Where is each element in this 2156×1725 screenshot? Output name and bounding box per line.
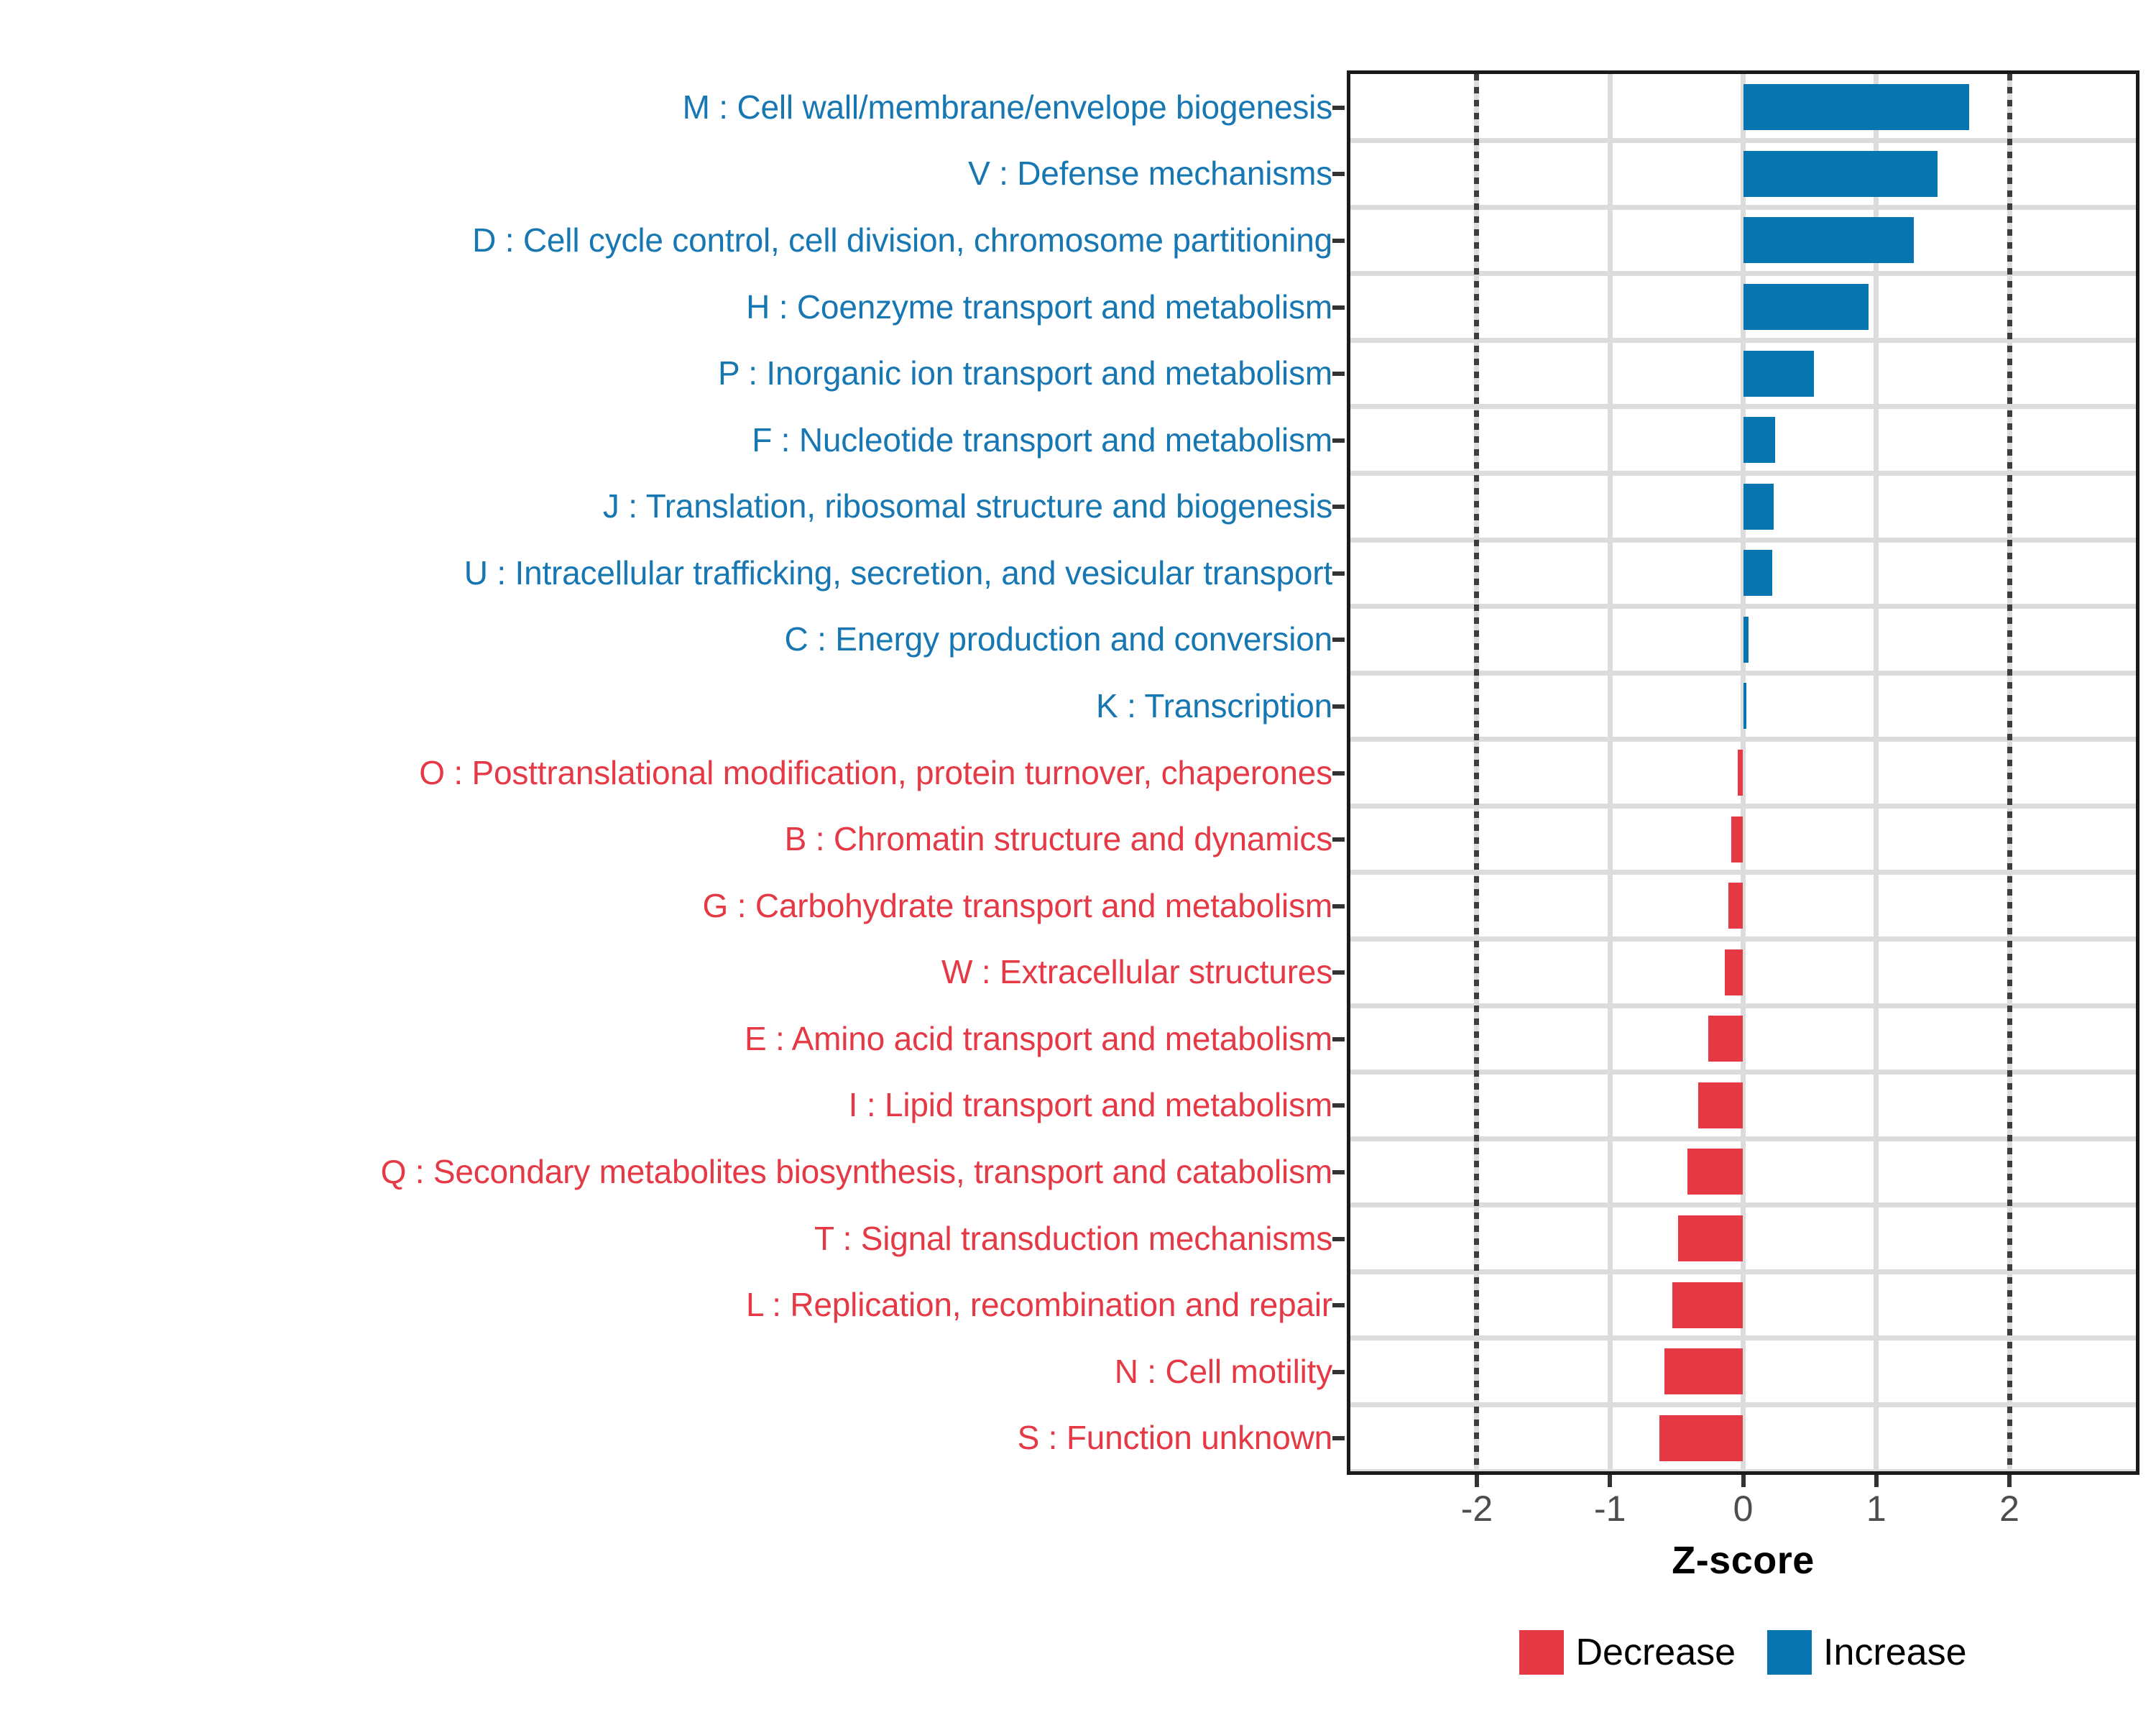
x-axis-title: Z-score [1347,1538,2139,1583]
y-axis-label: C : Energy production and conversion [785,606,1332,673]
y-axis-label: U : Intracellular trafficking, secretion… [464,540,1332,607]
x-axis-tick-mark [1475,1475,1479,1487]
bar [1659,1415,1743,1461]
y-axis-label: N : Cell motility [1115,1338,1332,1405]
y-axis-tick-mark [1332,904,1345,908]
gridline-vertical [1608,74,1613,1471]
y-axis-tick-mark [1332,1303,1345,1307]
y-axis-tick-mark [1332,638,1345,642]
reference-line-dotted [2007,74,2012,1471]
x-axis-tick-label: -1 [1567,1488,1653,1529]
y-axis-label: H : Coenzyme transport and metabolism [746,274,1332,341]
y-axis-label: D : Cell cycle control, cell division, c… [472,207,1332,274]
y-axis-tick-mark [1332,771,1345,776]
bar [1687,1149,1743,1195]
bar [1743,84,1970,130]
bar [1743,417,1775,463]
y-axis-tick-mark [1332,1170,1345,1174]
y-axis-label: O : Posttranslational modification, prot… [419,740,1332,806]
y-axis-tick-mark [1332,438,1345,443]
bar [1664,1348,1743,1394]
gridline-horizontal [1350,1003,2136,1008]
y-axis-label: E : Amino acid transport and metabolism [745,1006,1332,1072]
y-axis-label: V : Defense mechanisms [968,140,1332,207]
y-axis-tick-mark [1332,970,1345,975]
legend-item: Decrease [1519,1630,1736,1675]
gridline-horizontal [1350,205,2136,210]
gridline-horizontal [1350,1402,2136,1407]
legend-label: Increase [1823,1631,1966,1674]
bar [1738,750,1743,796]
bar [1678,1215,1743,1261]
bar [1743,217,1914,263]
y-axis-label: J : Translation, ribosomal structure and… [603,473,1332,540]
x-axis-tick-label: 1 [1833,1488,1920,1529]
plot-panel [1347,70,2139,1475]
bar [1743,683,1746,729]
y-axis-tick-mark [1332,239,1345,243]
gridline-horizontal [1350,937,2136,942]
bar [1708,1016,1743,1062]
legend-swatch-icon [1519,1630,1564,1675]
plot-area [1350,74,2136,1471]
y-axis-label: W : Extracellular structures [941,939,1332,1006]
y-axis-tick-mark [1332,505,1345,509]
y-axis-tick-mark [1332,1436,1345,1440]
y-axis-tick-mark [1332,106,1345,110]
bar [1725,949,1743,995]
y-axis-tick-mark [1332,571,1345,576]
gridline-horizontal [1350,1269,2136,1274]
bar [1743,550,1773,596]
x-axis-tick-mark [1608,1475,1612,1487]
bar [1743,617,1749,663]
y-axis-label: K : Transcription [1096,673,1332,740]
y-axis-tick-mark [1332,1103,1345,1108]
gridline-horizontal [1350,471,2136,476]
bar [1743,151,1938,197]
reference-line-dotted [1474,74,1479,1471]
gridline-horizontal [1350,1069,2136,1075]
y-axis-label: T : Signal transduction mechanisms [814,1205,1332,1272]
y-axis-tick-mark [1332,1237,1345,1241]
y-axis-tick-mark [1332,704,1345,709]
gridline-horizontal [1350,1335,2136,1340]
gridline-horizontal [1350,138,2136,143]
x-axis-tick-mark [2007,1475,2012,1487]
legend-item: Increase [1767,1630,1966,1675]
y-axis-label: F : Nucleotide transport and metabolism [752,407,1332,474]
gridline-horizontal [1350,870,2136,875]
gridline-horizontal [1350,804,2136,809]
gridline-horizontal [1350,1469,2136,1472]
gridline-horizontal [1350,271,2136,276]
gridline-horizontal [1350,604,2136,609]
bar [1743,284,1869,330]
cog-zscore-bar-chart: M : Cell wall/membrane/envelope biogenes… [0,0,2156,1725]
x-axis-tick-mark [1741,1475,1746,1487]
gridline-horizontal [1350,737,2136,742]
y-axis-tick-mark [1332,305,1345,310]
x-axis-tick-label: 0 [1700,1488,1787,1529]
bar [1672,1282,1743,1328]
y-axis-label: S : Function unknown [1018,1404,1332,1471]
y-axis-tick-mark [1332,1370,1345,1374]
x-axis-tick-label: 2 [1966,1488,2053,1529]
legend-label: Decrease [1575,1631,1736,1674]
x-axis-tick-label: -2 [1434,1488,1520,1529]
y-axis-label: P : Inorganic ion transport and metaboli… [718,340,1332,407]
legend-swatch-icon [1767,1630,1812,1675]
bar [1698,1082,1743,1128]
y-axis-label: L : Replication, recombination and repai… [746,1271,1332,1338]
bar [1728,883,1743,929]
bar [1743,351,1814,397]
bar [1743,484,1774,530]
y-axis-label: I : Lipid transport and metabolism [849,1072,1332,1138]
y-axis-tick-mark [1332,172,1345,176]
gridline-horizontal [1350,538,2136,543]
x-axis-tick-mark [1874,1475,1879,1487]
gridline-horizontal [1350,404,2136,409]
y-axis-label: Q : Secondary metabolites biosynthesis, … [381,1138,1332,1205]
y-axis-tick-mark [1332,372,1345,376]
bar [1731,816,1743,862]
y-axis-tick-mark [1332,837,1345,842]
y-axis-tick-mark [1332,1037,1345,1041]
gridline-horizontal [1350,671,2136,676]
gridline-horizontal [1350,1136,2136,1141]
gridline-horizontal [1350,1202,2136,1207]
gridline-vertical [1874,74,1879,1471]
chart-legend: DecreaseIncrease [1347,1630,2139,1675]
y-axis-label: M : Cell wall/membrane/envelope biogenes… [683,74,1332,141]
y-axis-label: G : Carbohydrate transport and metabolis… [703,873,1332,939]
y-axis-label: B : Chromatin structure and dynamics [785,806,1332,873]
gridline-horizontal [1350,338,2136,343]
y-axis-category-labels: M : Cell wall/membrane/envelope biogenes… [0,70,1342,1475]
